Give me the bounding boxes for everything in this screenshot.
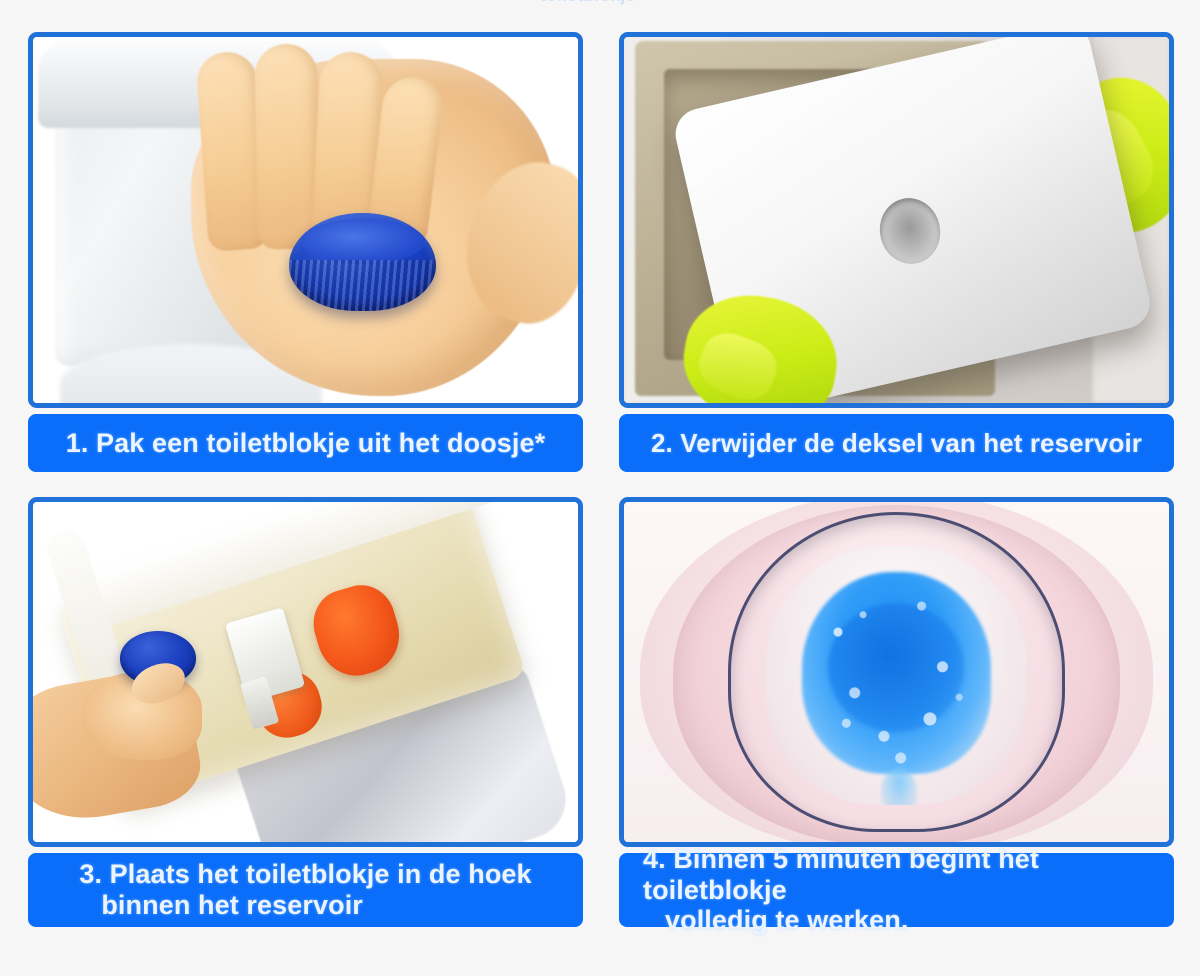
step-4-caption-line-1: 4. Binnen 5 minuten begint het toiletblo… bbox=[643, 844, 1039, 905]
step-card-3: 3. Plaats het toiletblokje in de hoek bi… bbox=[28, 497, 583, 927]
step-1-caption-text: 1. Pak een toiletblokje uit het doosje* bbox=[66, 428, 546, 459]
step-2-caption: 2. Verwijder de deksel van het reservoir bbox=[619, 414, 1174, 472]
step-1-image-frame bbox=[28, 32, 583, 408]
step-card-4: 4. Binnen 5 minuten begint het toiletblo… bbox=[619, 497, 1174, 927]
step-2-image-frame bbox=[619, 32, 1174, 408]
step-2-caption-text: 2. Verwijder de deksel van het reservoir bbox=[651, 428, 1142, 459]
step-3-caption-text: 3. Plaats het toiletblokje in de hoek bi… bbox=[79, 859, 531, 921]
step-4-illustration bbox=[624, 502, 1169, 842]
step-3-image-frame bbox=[28, 497, 583, 847]
step-1-illustration bbox=[33, 37, 578, 403]
step-4-caption: 4. Binnen 5 minuten begint het toiletblo… bbox=[619, 853, 1174, 927]
step-3-caption-line-2: binnen het reservoir bbox=[79, 890, 531, 921]
step-1-caption: 1. Pak een toiletblokje uit het doosje* bbox=[28, 414, 583, 472]
blue-block-top-face bbox=[301, 219, 425, 264]
step-3-caption: 3. Plaats het toiletblokje in de hoek bi… bbox=[28, 853, 583, 927]
step-4-caption-text: 4. Binnen 5 minuten begint het toiletblo… bbox=[643, 844, 1174, 936]
step-card-2: 2. Verwijder de deksel van het reservoir bbox=[619, 32, 1174, 472]
top-cut-text: toiletblokje bbox=[0, 0, 1200, 14]
step-card-1: 1. Pak een toiletblokje uit het doosje* bbox=[28, 32, 583, 472]
top-cut-text-label: toiletblokje bbox=[540, 0, 636, 6]
steps-grid: 1. Pak een toiletblokje uit het doosje* bbox=[28, 32, 1174, 926]
bowl-water-surface bbox=[766, 546, 1028, 804]
step-2-illustration bbox=[624, 37, 1169, 403]
step-4-image-frame bbox=[619, 497, 1174, 847]
foam-bubbles bbox=[792, 567, 1001, 784]
step-3-caption-line-1: 3. Plaats het toiletblokje in de hoek bbox=[79, 859, 531, 889]
finger-middle-shape bbox=[255, 44, 321, 250]
step-3-illustration bbox=[33, 502, 578, 842]
step-4-caption-line-2: volledig te werken. bbox=[643, 905, 1174, 936]
blue-toilet-block bbox=[289, 213, 436, 312]
instruction-infographic: toiletblokje bbox=[0, 0, 1200, 976]
